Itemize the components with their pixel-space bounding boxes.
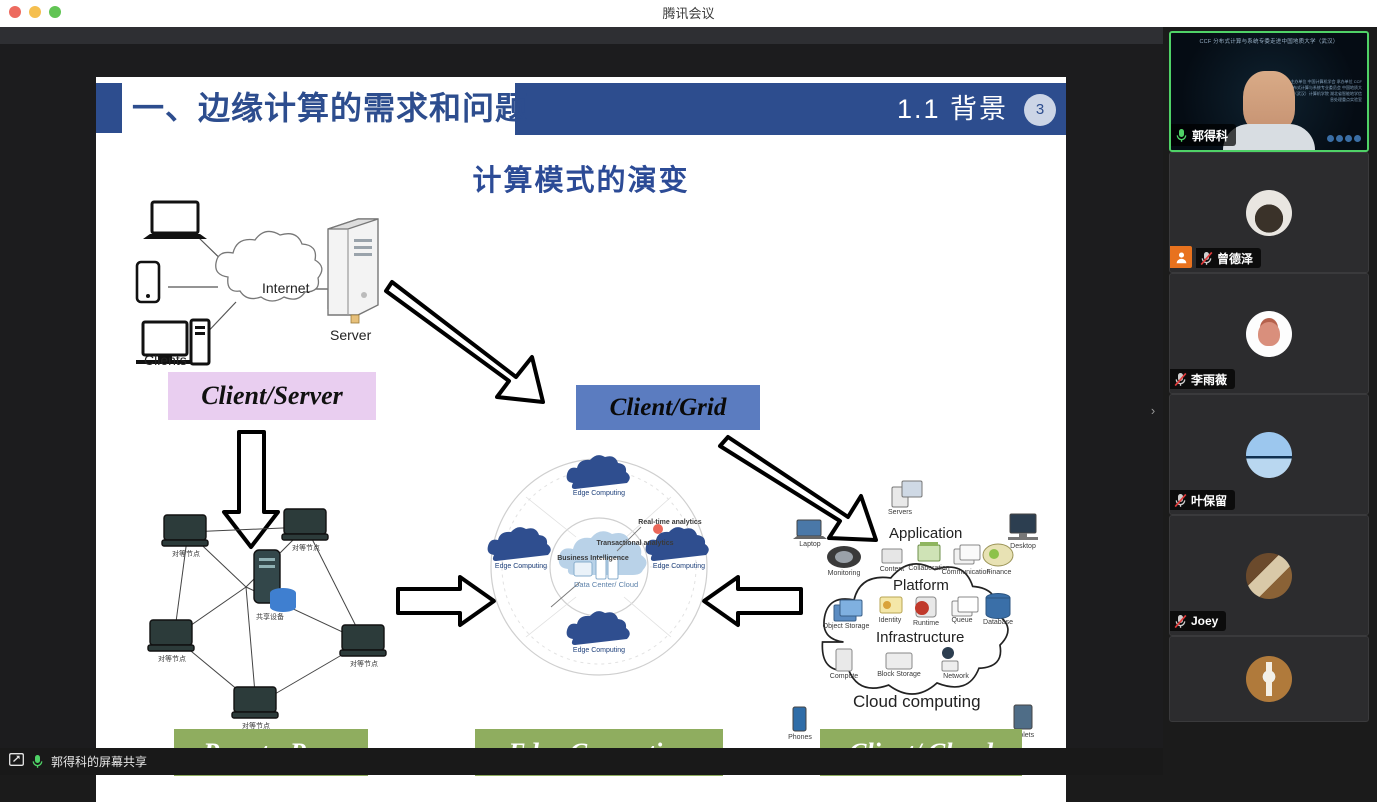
cloud-icon-label: Finance [980, 569, 1018, 576]
cloud-icon-label: Block Storage [877, 671, 921, 678]
video-side-text: 主办单位 中国计算机学会 承办单位 CCF分布式计算与系统专业委员会 中国地质大… [1288, 79, 1362, 103]
avatar [1246, 656, 1292, 702]
avatar [1246, 432, 1292, 478]
cloud-icon-label: Servers [880, 509, 920, 516]
slide-section-label: 1.1 背景 [897, 83, 1008, 135]
cloud-icon-label: Monitoring [822, 570, 866, 577]
cloud-icon-label: Object Storage [818, 623, 874, 630]
p2p-center-device [254, 550, 296, 612]
video-banner-text: CCF 分布式计算与系统专委走进中国地质大学（武汉） [1171, 37, 1367, 45]
participant-name: Joey [1191, 614, 1218, 628]
server-label: Server [330, 327, 371, 343]
clients-label: Clients [144, 352, 187, 368]
person-icon [1175, 251, 1188, 264]
microphone-icon [31, 754, 44, 769]
p2p-peer-label: 对等节点 [278, 543, 334, 553]
cloud-layer-label: Infrastructure [876, 629, 964, 646]
participant-name: 李雨薇 [1191, 371, 1227, 388]
participant-name-chip: 李雨薇 [1170, 369, 1235, 389]
slide-page-badge: 3 [1024, 94, 1056, 126]
cloud-icon-label: Queue [942, 617, 982, 624]
cloud-inner-icons [827, 542, 1013, 671]
p2p-peer-label: 对等节点 [158, 549, 214, 559]
participant-rail[interactable]: CCF 分布式计算与系统专委走进中国地质大学（武汉） 主办单位 中国计算机学会 … [1163, 27, 1377, 802]
participant-tile-zengdeze[interactable]: 曾德泽 [1169, 152, 1369, 273]
cloud-computing-label: Cloud computing [853, 692, 981, 712]
edge-node-label: Edge Computing [564, 647, 634, 654]
stage-label-client-grid: Client/Grid [576, 385, 760, 430]
cloud-icon-label: Compute [822, 673, 866, 680]
speaker-shirt [1223, 124, 1315, 150]
smartphone-icon [137, 262, 159, 302]
participant-name: 郭得科 [1192, 127, 1228, 144]
microphone-muted-icon [1200, 251, 1213, 266]
participant-tile-partial[interactable] [1169, 636, 1369, 722]
video-logo-row [1327, 135, 1361, 142]
p2p-peer-label: 对等节点 [336, 659, 392, 669]
participant-name-chip: 曾德泽 [1196, 248, 1261, 268]
cloud-layer-label: Application [889, 525, 962, 542]
participant-name: 曾德泽 [1217, 250, 1253, 267]
shared-slide: 一、边缘计算的需求和问题 1.1 背景 3 计算模式的演变 [96, 77, 1066, 802]
cloud-icon-label: Database [978, 619, 1018, 626]
participant-tile-joey[interactable]: Joey [1169, 515, 1369, 636]
arrow-cloud-to-edge [704, 577, 801, 625]
microphone-muted-icon [1174, 372, 1187, 387]
arrow-cs-to-p2p [224, 432, 278, 547]
edge-annotation: Business Intelligence [548, 555, 638, 562]
arrow-p2p-to-edge [398, 577, 494, 625]
microphone-icon [1175, 128, 1188, 143]
microphone-muted-icon [1174, 493, 1187, 508]
internet-label: Internet [262, 280, 309, 296]
cloud-icon-label: Phones [780, 734, 820, 741]
participant-tile-liyuwei[interactable]: 李雨薇 [1169, 273, 1369, 394]
participant-tile-yebaoliu[interactable]: 叶保留 [1169, 394, 1369, 515]
p2p-center-label: 共享设备 [242, 612, 298, 622]
server-icon [328, 219, 378, 323]
participant-name-chip: 郭得科 [1171, 124, 1236, 146]
datacenter-label: Data Center/ Cloud [574, 580, 626, 589]
cloud-icon-label: Laptop [790, 541, 830, 548]
screen-share-statusbar: 郭得科的屏幕共享 [0, 748, 1163, 775]
avatar [1246, 553, 1292, 599]
cloud-icon-label: Network [936, 673, 976, 680]
shared-screen-stage: 一、边缘计算的需求和问题 1.1 背景 3 计算模式的演变 [0, 27, 1163, 775]
avatar [1246, 311, 1292, 357]
participant-name: 叶保留 [1191, 492, 1227, 509]
edge-annotation: Real-time analytics [630, 519, 710, 526]
microphone-muted-icon [1174, 614, 1187, 629]
chevron-right-icon[interactable]: › [1146, 398, 1160, 422]
slide-title: 一、边缘计算的需求和问题 [132, 81, 528, 135]
screen-share-label: 郭得科的屏幕共享 [51, 753, 147, 770]
p2p-peer-label: 对等节点 [144, 654, 200, 664]
slide-diagram-canvas: Internet Clients Server 对等节点 对等节点 对等节点 对… [96, 77, 1066, 802]
cloud-icon-label: Desktop [1003, 543, 1043, 550]
window-title: 腾讯会议 [0, 0, 1377, 27]
edge-node-label: Edge Computing [564, 490, 634, 497]
cloud-layer-label: Platform [893, 577, 949, 594]
avatar [1246, 190, 1292, 236]
edge-node-label: Edge Computing [644, 563, 714, 570]
participant-name-chip: Joey [1170, 611, 1226, 631]
meeting-window: 腾讯会议 一、边缘计算的需求和问题 1.1 背景 3 计算模式的演变 [0, 0, 1377, 802]
host-badge [1170, 246, 1192, 268]
edge-cloud-icons [488, 455, 709, 645]
participant-tile-guodeke[interactable]: CCF 分布式计算与系统专委走进中国地质大学（武汉） 主办单位 中国计算机学会 … [1169, 31, 1369, 152]
laptop-icon [143, 202, 207, 239]
window-titlebar: 腾讯会议 [0, 0, 1377, 27]
edge-annotation: Transactional analytics [590, 540, 680, 547]
edge-node-label: Edge Computing [486, 563, 556, 570]
screen-share-icon [9, 753, 24, 771]
edge-inner-ring [550, 518, 648, 616]
arrow-cs-to-grid [386, 282, 543, 402]
stage-label-client-server: Client/Server [168, 372, 376, 420]
arrow-grid-to-cloud [720, 437, 876, 540]
participant-name-chip: 叶保留 [1170, 490, 1235, 510]
